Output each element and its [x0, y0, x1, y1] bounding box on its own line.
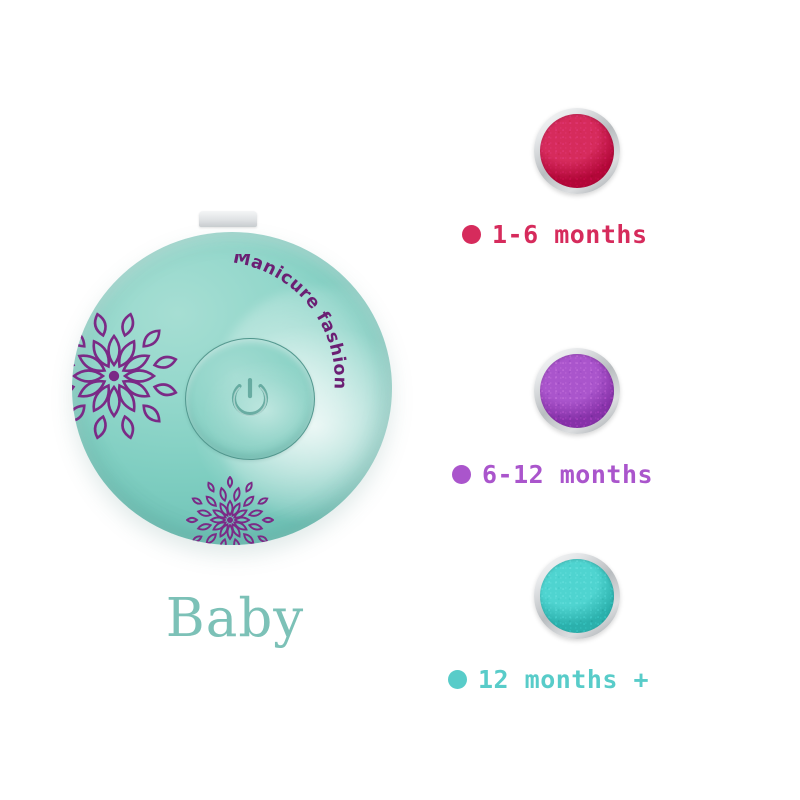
pad-bullet-icon [462, 225, 481, 244]
flower-large-center [109, 371, 119, 381]
power-button[interactable] [185, 338, 315, 460]
pad-face [540, 114, 614, 188]
nail-trimmer-device: Manicure fashion [62, 205, 407, 550]
pad-label: 12 months + [478, 665, 649, 694]
pad-bullet-icon [452, 465, 471, 484]
product-image-canvas: Manicure fashion Baby 1-6 month [0, 0, 800, 800]
pad-disc-12-months-plus[interactable] [534, 553, 620, 639]
product-caption: Baby [0, 592, 470, 645]
pad-legend-row: 6-12 months [452, 460, 653, 489]
pad-entry-6-12-months: 6-12 months [440, 348, 740, 434]
pad-label: 1-6 months [492, 220, 648, 249]
pad-face [540, 354, 614, 428]
pad-grit-texture [540, 559, 614, 633]
pad-grit-texture [540, 354, 614, 428]
flower-large-icon [72, 310, 180, 442]
pad-label: 6-12 months [482, 460, 653, 489]
flower-small-center [227, 517, 233, 523]
pad-face [540, 559, 614, 633]
pad-entry-1-6-months: 1-6 months [440, 108, 740, 194]
pad-legend-row: 1-6 months [462, 220, 648, 249]
flower-small-icon [186, 476, 274, 545]
pad-grit-texture [540, 114, 614, 188]
pad-disc-1-6-months[interactable] [534, 108, 620, 194]
pad-legend-row: 12 months + [448, 665, 649, 694]
pad-bullet-icon [448, 670, 467, 689]
device-body: Manicure fashion [72, 232, 392, 545]
device-lid-tab [199, 211, 257, 227]
pad-entry-12-months-plus: 12 months + [440, 553, 740, 639]
pad-disc-6-12-months[interactable] [534, 348, 620, 434]
power-icon [228, 375, 272, 421]
